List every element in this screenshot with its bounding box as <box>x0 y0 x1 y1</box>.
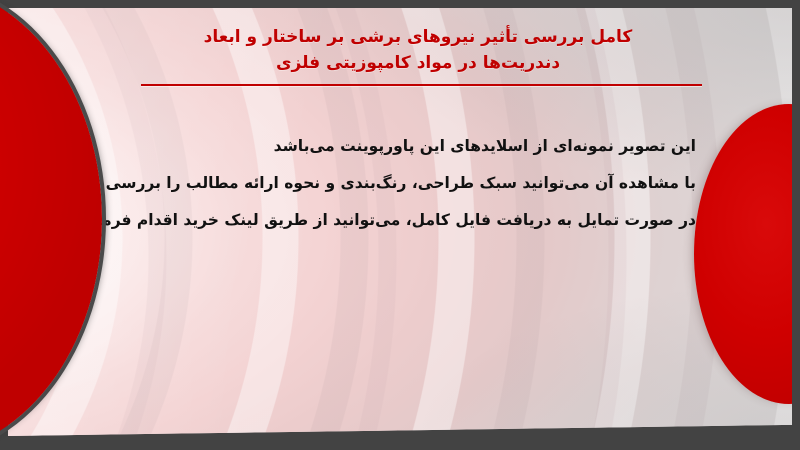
presentation-slide: کامل بررسی تأثیر نیروهای برشی بر ساختار … <box>0 0 800 450</box>
body-line-3: در صورت تمایل به دریافت فایل کامل، می‌تو… <box>86 202 696 239</box>
body-line-1: این تصویر نمونه‌ای از اسلایدهای این پاور… <box>86 128 696 165</box>
slide-body-text: این تصویر نمونه‌ای از اسلایدهای این پاور… <box>86 128 696 239</box>
slide-title: کامل بررسی تأثیر نیروهای برشی بر ساختار … <box>118 24 718 77</box>
slide-title-line-1: کامل بررسی تأثیر نیروهای برشی بر ساختار … <box>118 24 718 50</box>
title-divider-rule <box>141 84 702 86</box>
slide-title-line-2: دندریت‌ها در مواد کامپوزیتی فلزی <box>118 50 718 76</box>
body-line-2: با مشاهده آن می‌توانید سبک طراحی، رنگ‌بن… <box>86 165 696 202</box>
slide-content-panel: کامل بررسی تأثیر نیروهای برشی بر ساختار … <box>8 8 792 436</box>
